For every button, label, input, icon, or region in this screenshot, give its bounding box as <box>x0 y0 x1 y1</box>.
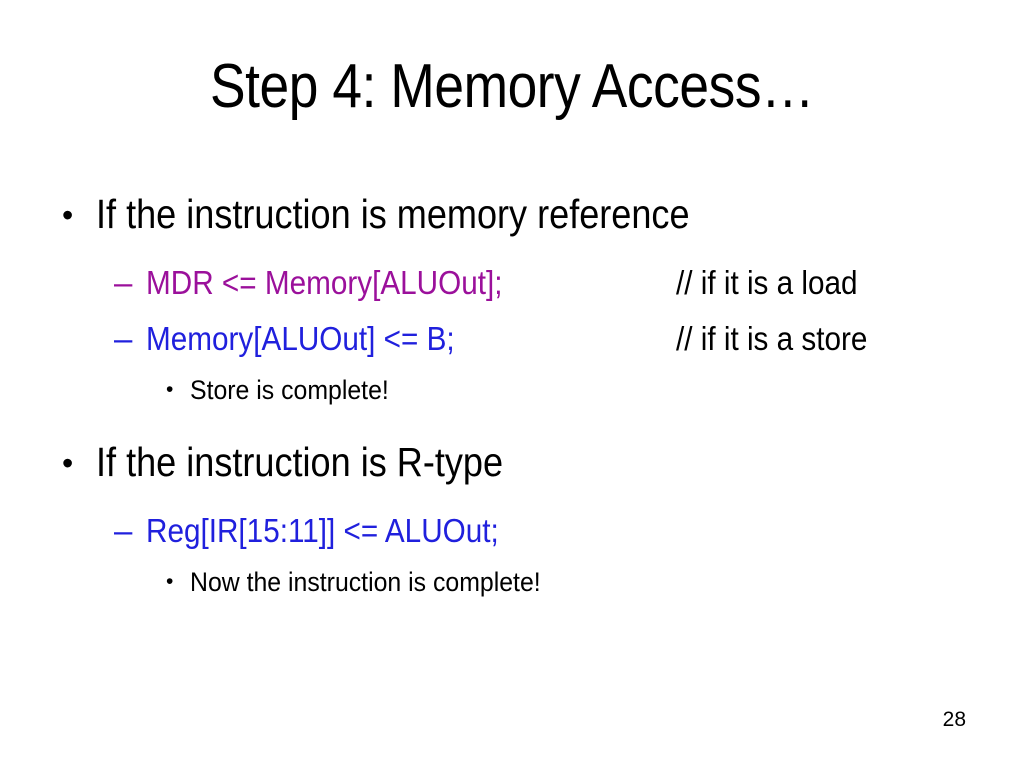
code-mdr-load: MDR <= Memory[ALUOut]; <box>146 256 502 310</box>
dash-marker-icon: – <box>114 256 132 310</box>
bullet-level2-memory-store: – Memory[ALUOut] <= B; // if it is a sto… <box>0 312 1024 368</box>
code-reg-write: Reg[IR[15:11]] <= ALUOut; <box>146 504 499 558</box>
bullet-level3-store-complete: • Store is complete! <box>0 368 1024 414</box>
spacer <box>0 244 1024 256</box>
bullet-level1-r-type: • If the instruction is R-type <box>0 434 1024 492</box>
bullet-level1-text: If the instruction is R-type <box>96 434 503 490</box>
slide-title: Step 4: Memory Access… <box>123 52 900 122</box>
dash-marker-icon: – <box>114 312 132 366</box>
dash-marker-icon: – <box>114 504 132 558</box>
bullet-marker-icon: • <box>166 560 173 604</box>
code-memory-store: Memory[ALUOut] <= B; <box>146 312 455 366</box>
bullet-level1-memory-reference: • If the instruction is memory reference <box>0 186 1024 244</box>
slide-body: • If the instruction is memory reference… <box>0 186 1024 606</box>
bullet-level2-reg-write: – Reg[IR[15:11]] <= ALUOut; <box>0 504 1024 560</box>
bullet-marker-icon: • <box>62 434 73 492</box>
comment-mdr-load: // if it is a load <box>676 256 858 310</box>
page-number: 28 <box>943 708 966 732</box>
bullet-level3-instruction-complete: • Now the instruction is complete! <box>0 560 1024 606</box>
bullet-marker-icon: • <box>62 186 73 244</box>
comment-memory-store: // if it is a store <box>676 312 867 366</box>
bullet-level2-mdr-load: – MDR <= Memory[ALUOut]; // if it is a l… <box>0 256 1024 312</box>
spacer <box>0 414 1024 434</box>
bullet-level3-text: Now the instruction is complete! <box>190 560 541 604</box>
bullet-level1-text: If the instruction is memory reference <box>96 186 690 242</box>
spacer <box>0 492 1024 504</box>
bullet-marker-icon: • <box>166 368 173 412</box>
bullet-level3-text: Store is complete! <box>190 368 389 412</box>
slide: Step 4: Memory Access… • If the instruct… <box>0 0 1024 768</box>
